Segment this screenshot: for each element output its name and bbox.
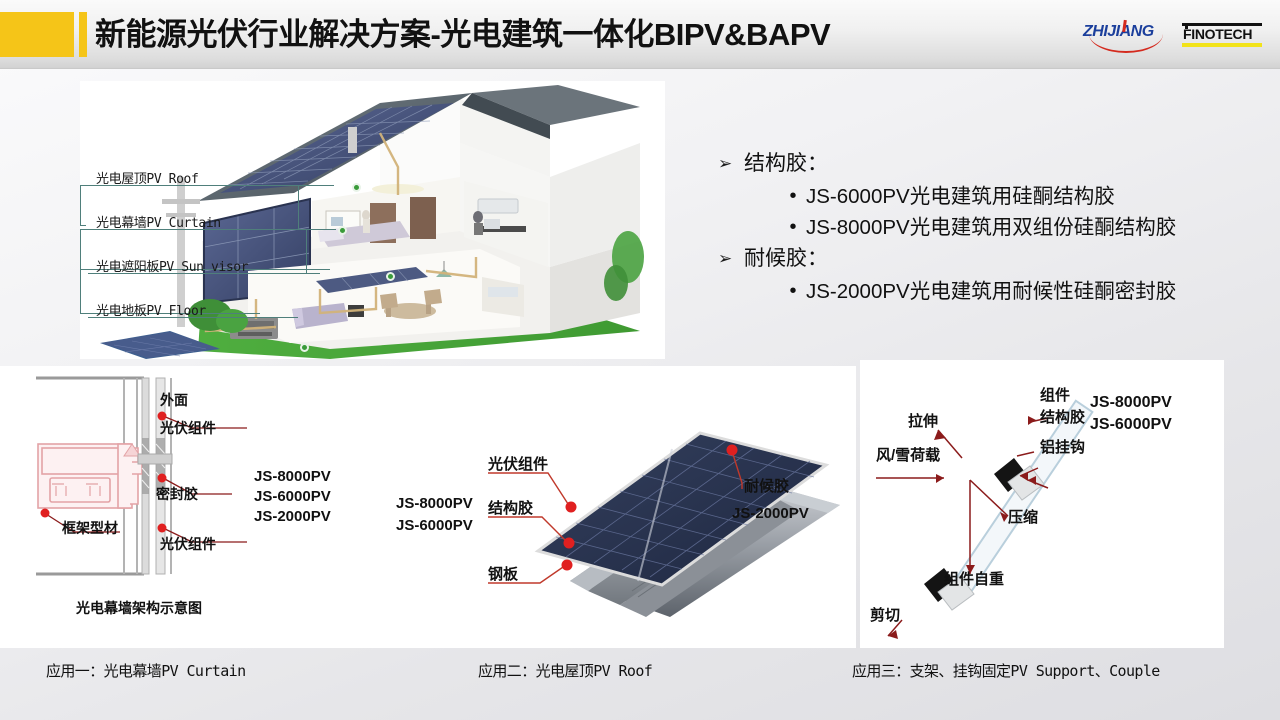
- leader-vline-roof: [80, 185, 81, 225]
- bk-label-windsnow: 风/雪荷载: [876, 444, 940, 465]
- bullet-item-js8000: JS-8000PV光电建筑用双组份硅酮结构胶: [806, 212, 1176, 243]
- roof-label-adhesive: 结构胶: [488, 497, 533, 518]
- leader-vline-sunvisor: [80, 269, 81, 313]
- bk-label-shear: 剪切: [870, 604, 900, 625]
- house-marker-curtain: [338, 226, 347, 235]
- cw-label-pv-top: 光伏组件: [160, 418, 216, 438]
- arrow-bullet-icon: ➢: [718, 243, 744, 274]
- bk-product-js6000: JS-6000PV: [1090, 416, 1172, 434]
- bullet-label-structural: 结构胶：: [744, 148, 828, 179]
- slide-root: 新能源光伏行业解决方案-光电建筑一体化BIPV&BAPV ZHIJIANG FI…: [0, 0, 1280, 720]
- house-label-floor: 光电地板PV Floor: [96, 300, 206, 319]
- leader-vline-curtain: [80, 229, 81, 269]
- cw-product-js2000: JS-2000PV: [254, 508, 331, 525]
- roof-diagram: 光伏组件 结构胶 钢板 耐候胶 JS-8000PV JS-6000PV JS-2…: [370, 385, 850, 625]
- house-label-roof: 光电屋顶PV Roof: [96, 168, 198, 187]
- roof-label-pv: 光伏组件: [488, 453, 548, 474]
- cw-label-pv-bottom: 光伏组件: [160, 534, 216, 554]
- cw-product-js8000: JS-8000PV: [254, 468, 331, 485]
- finotech-logo: FINOTECH: [1182, 22, 1262, 48]
- cw-label-sealant: 密封胶: [156, 484, 198, 504]
- label-link-sunvisor: [306, 229, 307, 273]
- label-link-curtain-h: [298, 185, 334, 186]
- roof-product-js2000: JS-2000PV: [732, 505, 809, 522]
- bk-label-weight: 组件自重: [944, 568, 1004, 589]
- bracket-diagram: 组件 结构胶 铝挂钩 拉伸 风/雪荷载 压缩 组件自重 剪切 JS-8000PV…: [862, 362, 1222, 642]
- slide-header: 新能源光伏行业解决方案-光电建筑一体化BIPV&BAPV ZHIJIANG FI…: [0, 0, 1280, 69]
- bk-product-js8000: JS-8000PV: [1090, 394, 1172, 412]
- label-link-curtain: [298, 185, 299, 229]
- cw-label-outside: 外面: [160, 390, 188, 410]
- cw-diagram-title: 光电幕墙架构示意图: [76, 598, 202, 618]
- house-marker-sunvisor: [386, 272, 395, 281]
- roof-label-weather: 耐候胶: [744, 475, 789, 496]
- bk-label-tension: 拉伸: [908, 410, 938, 431]
- roof-label-steel: 钢板: [488, 563, 518, 584]
- finotech-logo-text: FINOTECH: [1183, 27, 1252, 42]
- house-marker-roof: [352, 183, 361, 192]
- zhijiang-logo-swoosh-icon: [1089, 34, 1163, 53]
- roof-product-js6000: JS-6000PV: [396, 517, 473, 534]
- house-label-curtain: 光电幕墙PV Curtain: [96, 212, 221, 231]
- page-title: 新能源光伏行业解决方案-光电建筑一体化BIPV&BAPV: [95, 14, 830, 56]
- roof-product-js8000: JS-8000PV: [396, 495, 473, 512]
- header-accent-bar: [79, 12, 87, 57]
- bullet-item: • JS-6000PV光电建筑用硅酮结构胶: [780, 181, 1266, 212]
- cw-product-js6000: JS-6000PV: [254, 488, 331, 505]
- zhijiang-logo: ZHIJIANG: [1083, 22, 1171, 48]
- bk-label-module: 组件: [1040, 384, 1070, 405]
- bk-label-hook: 铝挂钩: [1040, 436, 1085, 457]
- caption-application-1: 应用一：光电幕墙PV Curtain: [46, 660, 246, 681]
- bullet-label-weather: 耐候胶：: [744, 243, 828, 274]
- house-marker-floor: [300, 343, 309, 352]
- caption-application-3: 应用三：支架、挂钩固定PV Support、Couple: [852, 660, 1160, 681]
- bk-label-adhesive: 结构胶: [1040, 406, 1085, 427]
- bullet-group-structural: ➢ 结构胶：: [718, 148, 1266, 179]
- curtain-wall-diagram: 外面 光伏组件 密封胶 框架型材 光伏组件 JS-8000PV JS-6000P…: [32, 366, 332, 636]
- label-link-sunvisor-h: [306, 229, 336, 230]
- caption-application-2: 应用二：光电屋顶PV Roof: [478, 660, 652, 681]
- finotech-rule-bottom: [1182, 43, 1262, 47]
- arrow-bullet-icon: ➢: [718, 148, 744, 179]
- logo-group: ZHIJIANG FINOTECH: [1083, 22, 1262, 48]
- product-bullet-list: ➢ 结构胶： • JS-6000PV光电建筑用硅酮结构胶 • JS-8000PV…: [718, 148, 1266, 307]
- bk-label-compression: 压缩: [1008, 506, 1038, 527]
- bullet-item: • JS-8000PV光电建筑用双组份硅酮结构胶: [780, 212, 1266, 243]
- bullet-item-js6000: JS-6000PV光电建筑用硅酮结构胶: [806, 181, 1115, 212]
- bullet-item: • JS-2000PV光电建筑用耐候性硅酮密封胶: [780, 276, 1266, 307]
- house-label-sunvisor: 光电遮阳板PV Sun visor: [96, 256, 248, 275]
- dot-bullet-icon: •: [780, 181, 806, 212]
- header-accent-block: [0, 12, 74, 57]
- bullet-item-js2000: JS-2000PV光电建筑用耐候性硅酮密封胶: [806, 276, 1176, 307]
- leader-line-roof-2: [80, 225, 86, 226]
- dot-bullet-icon: •: [780, 212, 806, 243]
- bullet-group-weather: ➢ 耐候胶：: [718, 243, 1266, 274]
- dot-bullet-icon: •: [780, 276, 806, 307]
- cw-label-frame: 框架型材: [62, 518, 118, 538]
